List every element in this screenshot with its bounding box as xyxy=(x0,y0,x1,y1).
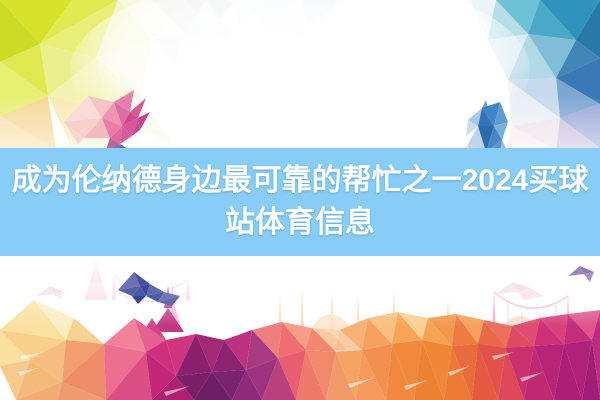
page-title: 成为伦纳德身边最可靠的帮忙之一2024买球站体育信息 xyxy=(0,148,600,256)
seagull-left xyxy=(118,272,180,306)
seagull-small-right xyxy=(568,266,594,282)
seagull-right xyxy=(496,282,544,300)
seagull-faint-left xyxy=(36,286,64,300)
banner: 成为伦纳德身边最可靠的帮忙之一2024买球站体育信息 xyxy=(0,0,600,400)
